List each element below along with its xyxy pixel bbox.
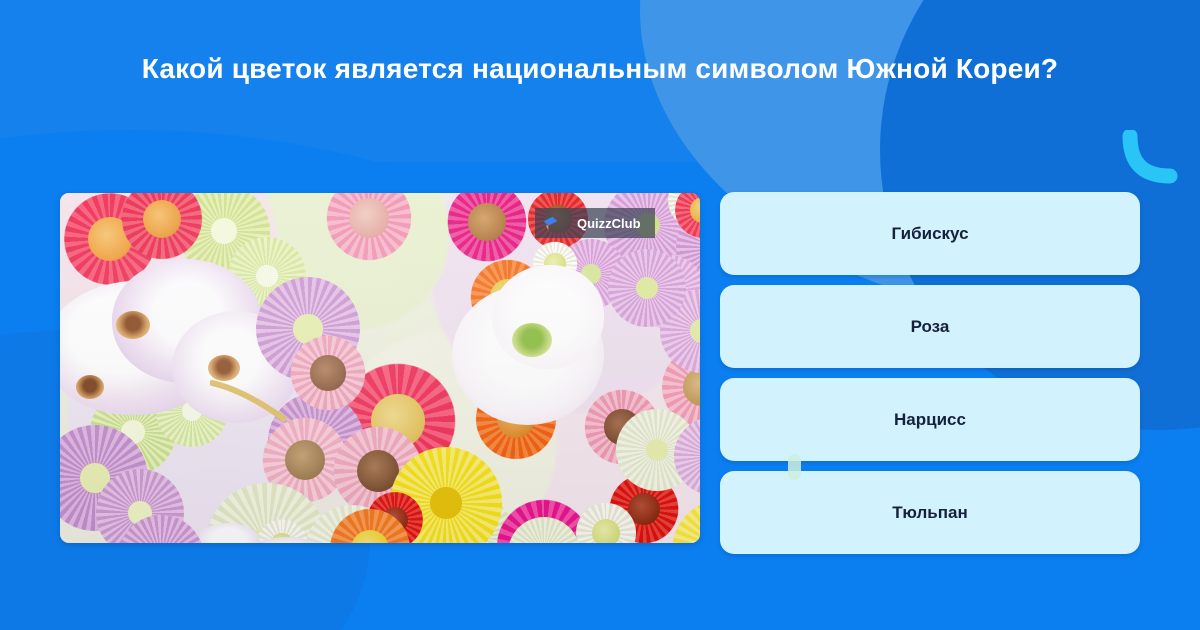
question-title: Какой цветок является национальным симво… bbox=[60, 46, 1140, 92]
answer-option-4[interactable]: Тюльпан bbox=[720, 471, 1140, 554]
answer-option-1-label: Гибискус bbox=[891, 224, 968, 244]
question-image-card: QuizzClub bbox=[60, 193, 700, 543]
flower-bouquet-photo bbox=[60, 193, 700, 543]
answer-option-2[interactable]: Роза bbox=[720, 285, 1140, 368]
cyan-arc-decoration bbox=[1122, 130, 1182, 186]
watermark: QuizzClub bbox=[535, 208, 655, 238]
answer-option-3-label: Нарцисс bbox=[894, 410, 966, 430]
watermark-label: QuizzClub bbox=[565, 208, 655, 238]
answer-option-3[interactable]: Нарцисс bbox=[720, 378, 1140, 461]
answer-options-list: Гибискус Роза Нарцисс Тюльпан bbox=[720, 192, 1140, 564]
answer-option-4-label: Тюльпан bbox=[892, 503, 968, 523]
graduation-cap-icon bbox=[541, 214, 560, 233]
quizzclub-logo bbox=[535, 208, 565, 238]
scroll-indicator-nub[interactable] bbox=[788, 454, 801, 480]
answer-option-2-label: Роза bbox=[911, 317, 950, 337]
answer-option-1[interactable]: Гибискус bbox=[720, 192, 1140, 275]
